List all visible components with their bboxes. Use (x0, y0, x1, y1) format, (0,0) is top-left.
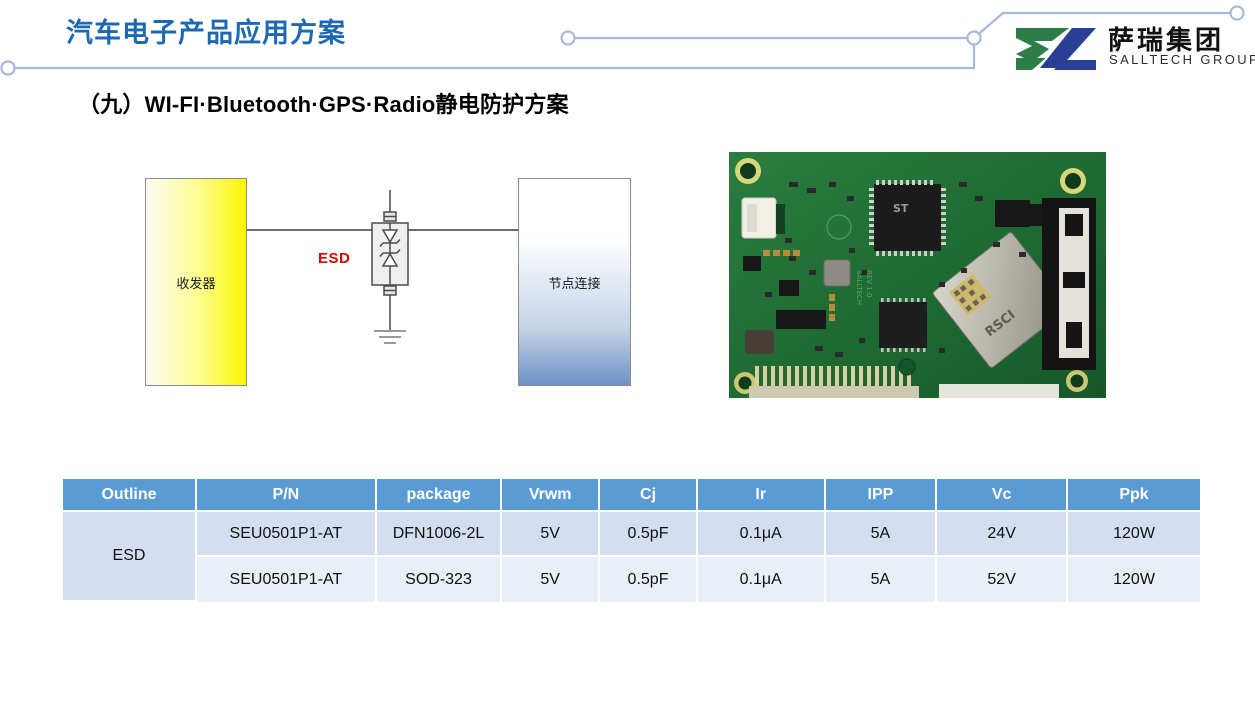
column-header-ppk: Ppk (1068, 479, 1200, 512)
cell-ipp: 5A (826, 557, 938, 602)
table-row: ESD SEU0501P1-AT DFN1006-2L 5V 0.5pF 0.1… (63, 512, 1200, 557)
cell-pn: SEU0501P1-AT (197, 512, 377, 557)
column-header-package: package (377, 479, 503, 512)
logo-company-name-en: SALLTECH GROUP (1109, 52, 1255, 67)
cell-package: SOD-323 (377, 557, 503, 602)
section-subtitle: （九）WI-FI·Bluetooth·GPS·Radio静电防护方案 (78, 87, 569, 119)
cell-pn: SEU0501P1-AT (197, 557, 377, 602)
column-header-ir: Ir (698, 479, 826, 512)
deco-node-left (2, 62, 15, 75)
svg-text:REV 1.0: REV 1.0 (865, 270, 873, 297)
cell-ipp: 5A (826, 512, 938, 557)
slide-canvas: 汽车电子产品应用方案 萨瑞集团 SALLTECH GROUP （九）WI-FI·… (0, 0, 1255, 702)
esd-component-label: ESD (318, 250, 350, 267)
outline-group-cell: ESD (63, 512, 197, 602)
column-header-outline: Outline (63, 479, 197, 512)
table-header-row: Outline P/N package Vrwm Cj Ir IPP Vc Pp… (63, 479, 1200, 512)
salltech-sl-logo-icon (1012, 24, 1100, 72)
column-header-vrwm: Vrwm (502, 479, 600, 512)
cell-package: DFN1006-2L (377, 512, 503, 557)
brand-logo: 萨瑞集团 SALLTECH GROUP (1012, 18, 1250, 78)
cell-vrwm: 5V (502, 512, 600, 557)
table-row: SEU0501P1-AT SOD-323 5V 0.5pF 0.1μA 5A 5… (63, 557, 1200, 602)
cell-vc: 52V (937, 557, 1068, 602)
column-header-pn: P/N (197, 479, 377, 512)
deco-node-mid (562, 32, 575, 45)
cell-ppk: 120W (1068, 557, 1200, 602)
cell-ppk: 120W (1068, 512, 1200, 557)
cell-ir: 0.1μA (698, 512, 826, 557)
esd-protection-schematic: 收发器 节点连接 ESD (130, 160, 660, 410)
cell-cj: 0.5pF (600, 557, 698, 602)
bidirectional-tvs-diode-icon (355, 190, 425, 365)
cell-ir: 0.1μA (698, 557, 826, 602)
deco-node-junction (968, 32, 981, 45)
cell-vc: 24V (937, 512, 1068, 557)
earth-ground-icon (374, 331, 406, 343)
cell-cj: 0.5pF (600, 512, 698, 557)
pcb-board-photo: ST (729, 152, 1106, 398)
svg-text:ST: ST (893, 202, 909, 215)
esd-spec-table: Outline P/N package Vrwm Cj Ir IPP Vc Pp… (63, 479, 1200, 602)
svg-text:SALLTECH: SALLTECH (855, 270, 863, 305)
page-title: 汽车电子产品应用方案 (66, 11, 346, 50)
column-header-cj: Cj (600, 479, 698, 512)
column-header-vc: Vc (937, 479, 1068, 512)
column-header-ipp: IPP (826, 479, 938, 512)
cell-vrwm: 5V (502, 557, 600, 602)
pcb-board-illustration: ST (729, 152, 1106, 398)
